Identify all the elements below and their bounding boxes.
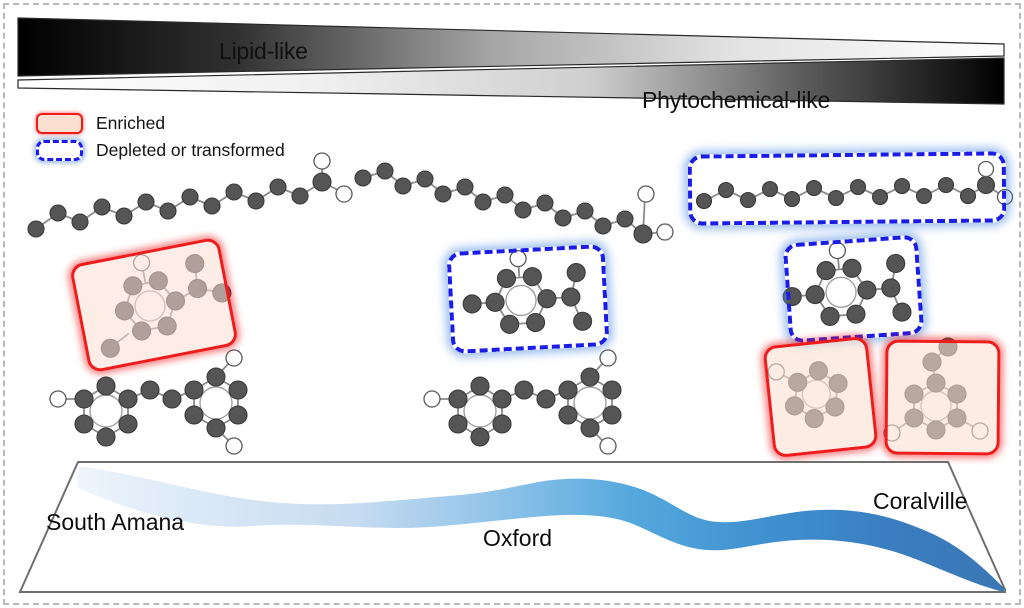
fatty-acid-chain-south-amana	[28, 153, 352, 237]
fatty-acid-chain-oxford	[355, 163, 673, 243]
river-label-coralville: Coralville	[873, 488, 968, 515]
river-label-south-amana: South Amana	[46, 509, 184, 536]
highlight-enriched-coralville-phenol	[762, 336, 878, 458]
diaryl-bridge-south-amana	[50, 350, 247, 454]
highlight-enriched-coralville-catechol	[885, 340, 1001, 456]
river-panel: South Amana Oxford Coralville	[18, 452, 1006, 598]
highlight-depleted-oxford	[446, 244, 609, 354]
highlight-depleted-coralville-ring	[783, 234, 925, 343]
river-label-oxford: Oxford	[483, 525, 552, 552]
highlight-depleted-coralville-chain	[688, 151, 1007, 225]
figure-root: Lipid-like Phytochemical-like Enriched D…	[0, 0, 1024, 608]
diaryl-bridge-oxford	[424, 350, 621, 454]
